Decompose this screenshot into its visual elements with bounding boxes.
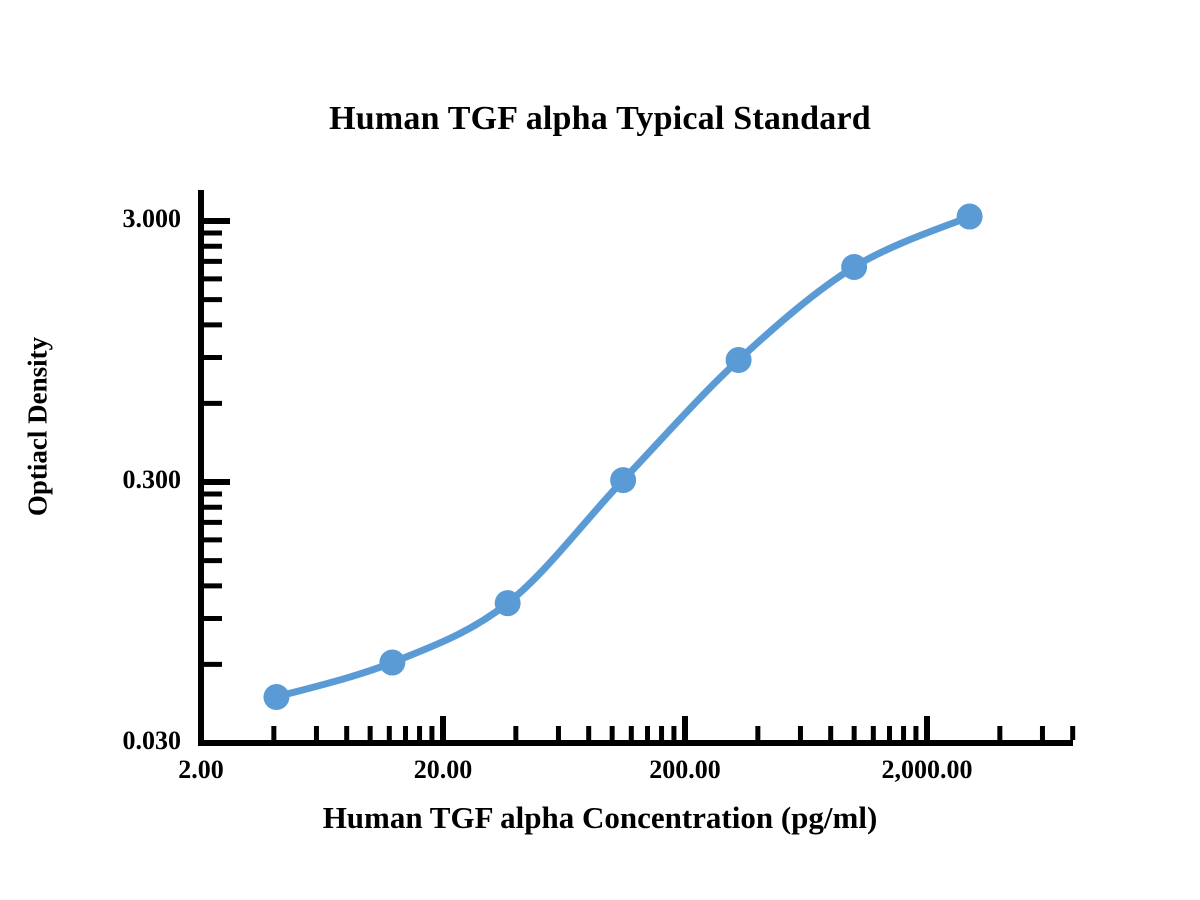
- y-tick-label: 0.030: [11, 726, 181, 756]
- x-tick-label: 2,000.00: [827, 755, 1027, 785]
- x-tick-label: 20.00: [343, 755, 543, 785]
- data-point-marker: [957, 204, 983, 230]
- y-tick-label: 3.000: [11, 204, 181, 234]
- y-ticks-group: [204, 221, 230, 743]
- chart-container: Human TGF alpha Typical Standard Optiacl…: [0, 0, 1200, 900]
- data-point-marker: [495, 590, 521, 616]
- data-point-marker: [263, 684, 289, 710]
- series-markers: [263, 204, 982, 710]
- data-series-group: [263, 204, 982, 710]
- x-ticks-group: [201, 716, 1073, 740]
- series-line: [276, 217, 969, 697]
- data-point-marker: [379, 650, 405, 676]
- y-tick-label: 0.300: [11, 465, 181, 495]
- data-point-marker: [610, 467, 636, 493]
- x-tick-label: 200.00: [585, 755, 785, 785]
- x-tick-label: 2.00: [101, 755, 301, 785]
- data-point-marker: [841, 254, 867, 280]
- data-point-marker: [726, 347, 752, 373]
